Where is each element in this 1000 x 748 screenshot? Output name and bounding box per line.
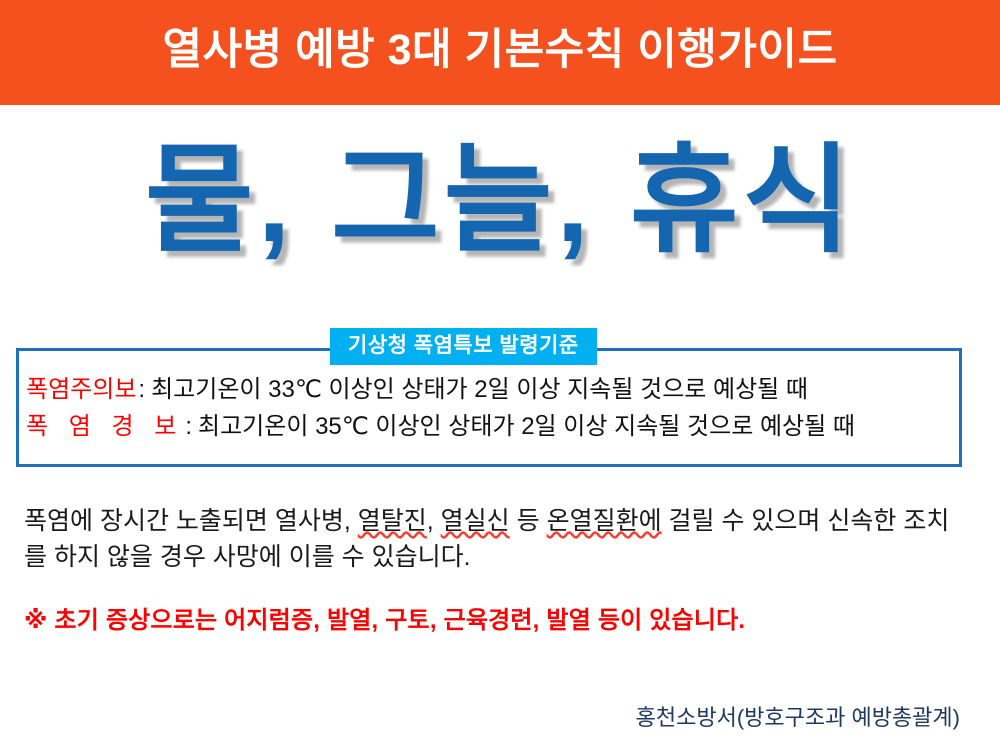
criteria-badge-title: 기상청 폭염특보 발령기준 xyxy=(330,328,597,365)
spellcheck-flagged-term: 온열질환에 xyxy=(547,507,662,535)
symptom-warning-text: 초기 증상으로는 어지럼증, 발열, 구토, 근육경련, 발열 등이 있습니다. xyxy=(54,607,745,634)
table-row: 폭 염 경 보 : 최고기온이 35℃ 이상인 상태가 2일 이상 지속될 것으… xyxy=(26,411,956,444)
footer-credit: 홍천소방서(방호구조과 예방총괄계) xyxy=(636,700,960,732)
spellcheck-flagged-term: 열실신 xyxy=(441,507,510,535)
header-title: 열사병 예방 3대 기본수칙 이행가이드 xyxy=(162,29,837,76)
criteria-text-warning: 최고기온이 35℃ 이상인 상태가 2일 이상 지속될 것으로 예상될 때 xyxy=(198,411,855,444)
paragraph-text: 폭염에 장시간 노출되면 열사병, xyxy=(24,507,358,535)
criteria-text-advisory: 최고기온이 33℃ 이상인 상태가 2일 이상 지속될 것으로 예상될 때 xyxy=(151,374,808,407)
reference-mark-icon: ※ xyxy=(24,607,48,634)
table-row: 폭염주의보 : 최고기온이 33℃ 이상인 상태가 2일 이상 지속될 것으로 … xyxy=(26,374,956,407)
criteria-label-warning: 폭 염 경 보 xyxy=(26,411,183,444)
criteria-row-list: 폭염주의보 : 최고기온이 33℃ 이상인 상태가 2일 이상 지속될 것으로 … xyxy=(26,374,956,447)
main-headline: 물, 그늘, 휴식 xyxy=(145,140,855,264)
paragraph-text: , xyxy=(427,507,441,535)
criteria-label-advisory: 폭염주의보 xyxy=(26,374,136,407)
paragraph-text: 등 xyxy=(510,507,547,535)
spellcheck-flagged-term: 열탈진 xyxy=(358,507,427,535)
headline-container: 물, 그늘, 휴식 xyxy=(0,140,1000,264)
criteria-separator: : xyxy=(136,374,151,407)
body-paragraph: 폭염에 장시간 노출되면 열사병, 열탈진, 열실신 등 온열질환에 걸릴 수 … xyxy=(24,504,959,575)
symptom-warning-line: ※ 초기 증상으로는 어지럼증, 발열, 구토, 근육경련, 발열 등이 있습니… xyxy=(24,600,745,635)
criteria-separator: : xyxy=(183,411,198,444)
header-banner: 열사병 예방 3대 기본수칙 이행가이드 xyxy=(0,0,1000,105)
